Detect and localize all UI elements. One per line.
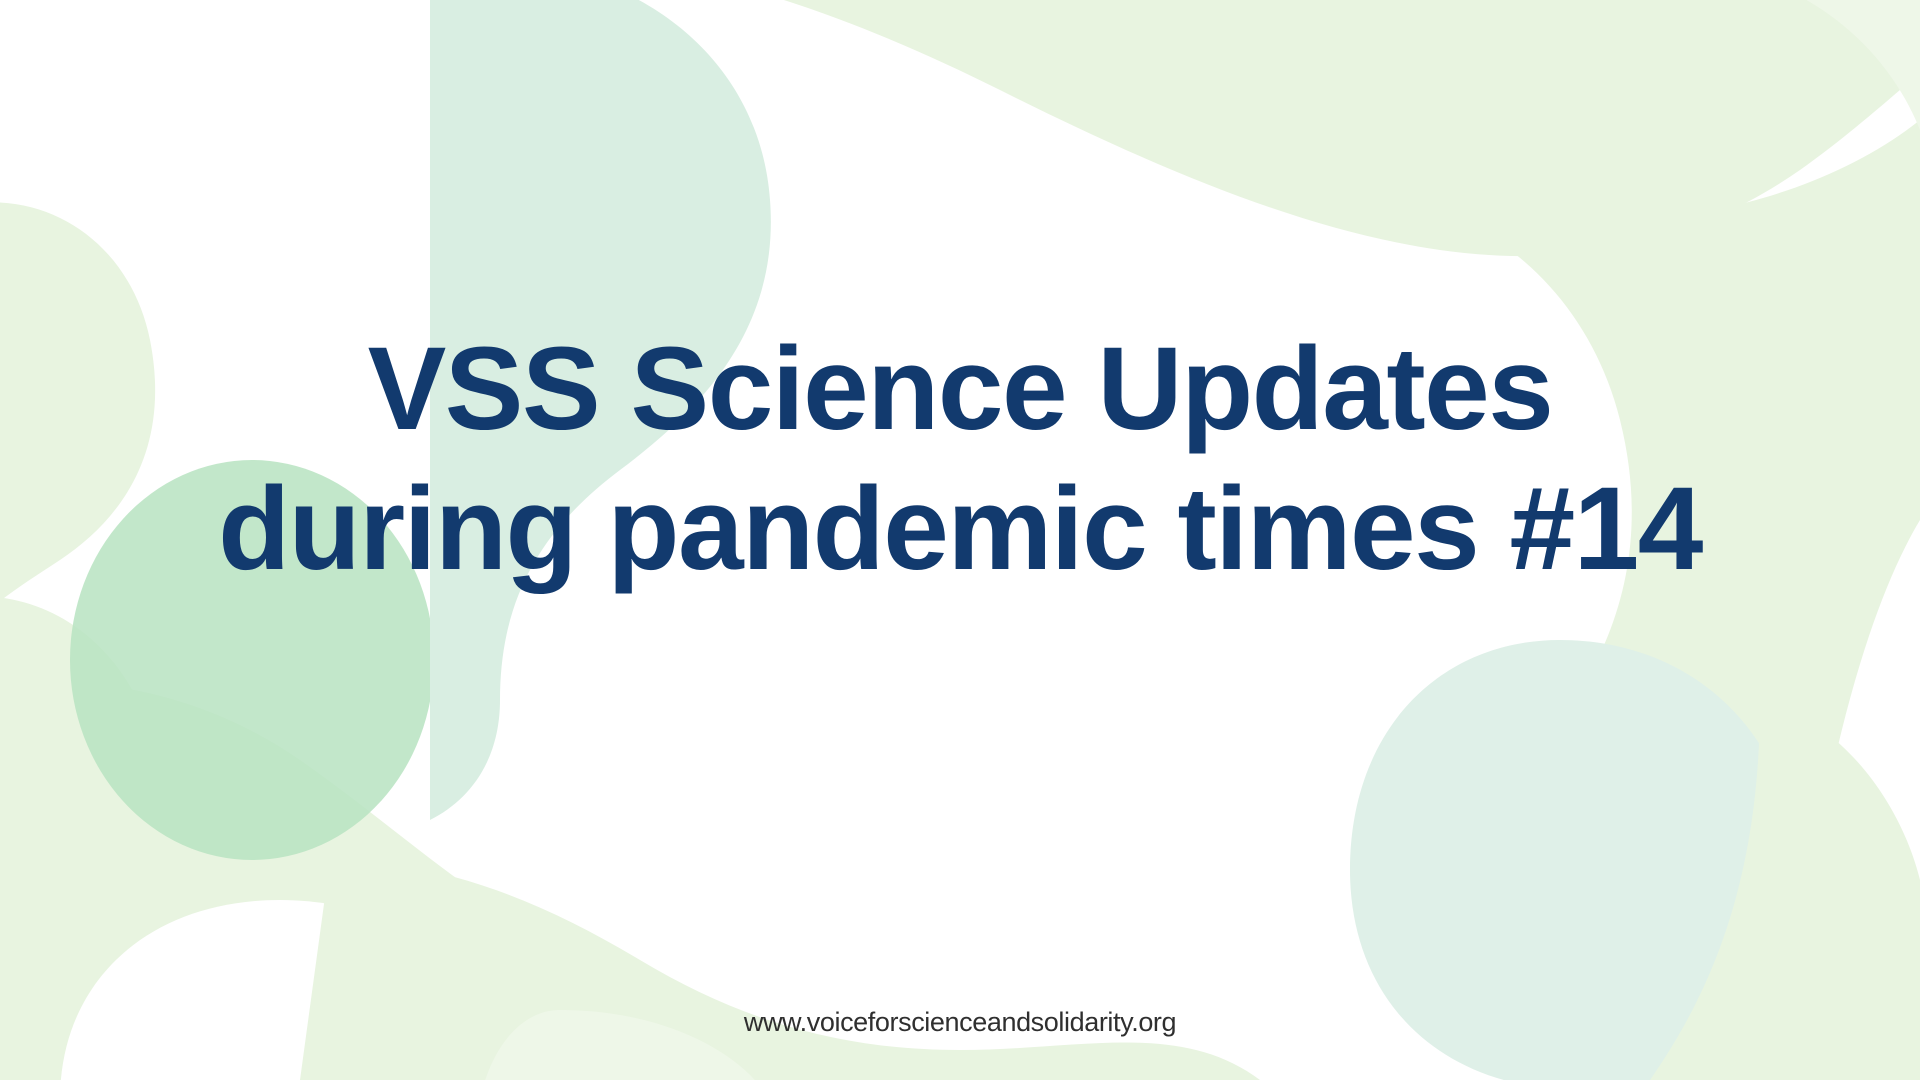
blob-topright-corner-faint [1650,0,1920,130]
page-title-line-2: during pandemic times #14 [0,458,1920,602]
blob-cutout-bottom-left [60,900,500,1080]
blob-top-right-pale [560,0,1920,256]
blob-bottom-center-pale [300,860,1260,1080]
title-block: VSS Science Updates during pandemic time… [0,318,1920,602]
title-slide: VSS Science Updates during pandemic time… [0,0,1920,1080]
page-title-line-1: VSS Science Updates [0,318,1920,462]
footer: www.voiceforscienceandsolidarity.org [0,1007,1920,1038]
footer-website-url[interactable]: www.voiceforscienceandsolidarity.org [744,1007,1176,1037]
